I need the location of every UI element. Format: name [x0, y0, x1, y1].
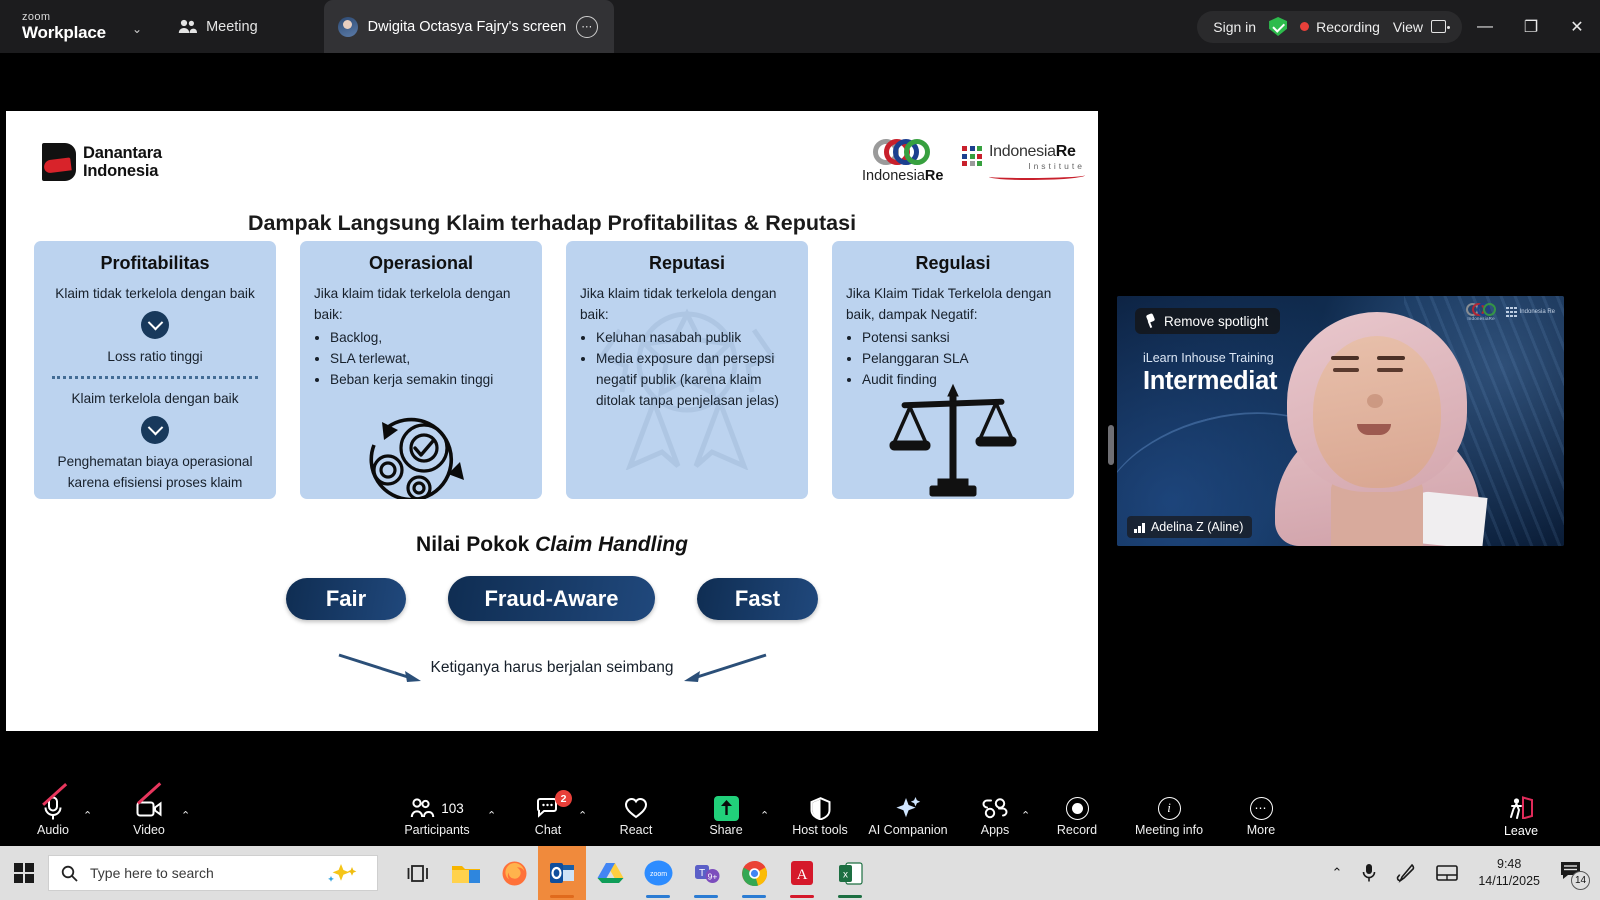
- share-caret-icon[interactable]: ⌃: [760, 809, 769, 822]
- info-icon: i: [1158, 795, 1181, 821]
- apps-icon: [982, 795, 1008, 821]
- title-bar: zoom Workplace ⌄ Meeting Dwigita Octasya…: [0, 0, 1600, 53]
- remove-spotlight-label: Remove spotlight: [1164, 314, 1268, 329]
- audio-caret-icon[interactable]: ⌃: [83, 809, 92, 822]
- card-regulasi: Regulasi Jika Klaim Tidak Terkelola deng…: [832, 241, 1074, 499]
- share-screen-icon: [714, 795, 739, 821]
- video-thumbnail-spotlight[interactable]: IndonesiaRe Indonesia Re iLearn Inhouse …: [1117, 296, 1564, 546]
- toolbar-ai-companion-button[interactable]: AI Companion: [862, 786, 954, 846]
- participant-name-chip: Adelina Z (Aline): [1127, 516, 1252, 538]
- indonesiare-logo: IndonesiaRe: [862, 139, 943, 184]
- heart-icon: [624, 795, 648, 821]
- shared-screen-area: Danantara Indonesia IndonesiaRe: [0, 53, 1104, 763]
- leave-button[interactable]: Leave: [1490, 786, 1552, 846]
- taskbar-search[interactable]: Type here to search: [48, 855, 378, 891]
- toolbar-label: Chat: [535, 824, 561, 837]
- danantara-logo: Danantara Indonesia: [42, 143, 162, 181]
- presentation-slide: Danantara Indonesia IndonesiaRe: [6, 111, 1098, 731]
- chevron-down-circle-icon: [141, 311, 169, 339]
- toolbar-react-button[interactable]: React: [606, 786, 666, 846]
- layout-icon: [1431, 20, 1446, 33]
- microphone-muted-icon: [42, 795, 64, 821]
- nilai-pokok-pills: Fair Fraud-Aware Fast: [6, 576, 1098, 621]
- tab-shared-screen-label: Dwigita Octasya Fajry's screen: [368, 19, 567, 35]
- slide-logo-row: Danantara Indonesia IndonesiaRe: [6, 133, 1098, 193]
- chat-bubble-icon: 2: [536, 795, 560, 821]
- impact-cards: Profitabilitas Klaim tidak terkelola den…: [34, 241, 1074, 499]
- ellipsis-icon: ⋯: [1250, 795, 1273, 821]
- danantara-line2: Indonesia: [83, 162, 162, 180]
- card-bullets: Keluhan nasabah publik Media exposure da…: [596, 327, 794, 411]
- view-button[interactable]: View: [1393, 19, 1446, 35]
- search-input[interactable]: Type here to search: [90, 865, 214, 881]
- svg-text:zoom: zoom: [649, 871, 666, 878]
- institute-sublabel: Institute: [989, 161, 1085, 171]
- record-icon: [1066, 795, 1089, 821]
- people-icon: [178, 19, 197, 34]
- nilai-title-italic: Claim Handling: [535, 533, 688, 556]
- search-icon: [61, 865, 78, 882]
- card-reputasi: Reputasi Jika klaim tidak terkelola deng…: [566, 241, 808, 499]
- sign-in-button[interactable]: Sign in: [1213, 19, 1256, 35]
- touchpad-icon[interactable]: [1436, 865, 1458, 881]
- view-label: View: [1393, 19, 1423, 35]
- toolbar-label: More: [1247, 824, 1275, 837]
- task-view-icon[interactable]: [394, 846, 442, 900]
- zoom-icon[interactable]: zoom: [634, 846, 682, 900]
- arrow-right-down-icon: [335, 651, 425, 685]
- list-item: SLA terlewat,: [330, 348, 528, 369]
- toolbar-label: Host tools: [792, 824, 848, 837]
- google-drive-icon[interactable]: [586, 846, 634, 900]
- avatar: [338, 17, 358, 37]
- tab-meeting[interactable]: Meeting: [178, 19, 258, 35]
- pill-fraud-aware: Fraud-Aware: [448, 576, 655, 621]
- tray-expand-icon[interactable]: ⌃: [1331, 865, 1342, 881]
- toolbar-label: Meeting info: [1135, 824, 1203, 837]
- danantara-line1: Danantara: [83, 144, 162, 162]
- acrobat-reader-icon[interactable]: A: [778, 846, 826, 900]
- nilai-title-plain: Nilai Pokok: [416, 533, 535, 556]
- chrome-icon[interactable]: [730, 846, 778, 900]
- toolbar-label: Record: [1057, 824, 1097, 837]
- toolbar-meeting-info-button[interactable]: i Meeting info: [1124, 786, 1214, 846]
- toolbar-label: React: [620, 824, 653, 837]
- chat-caret-icon[interactable]: ⌃: [578, 809, 587, 822]
- toolbar-apps-button[interactable]: Apps: [968, 786, 1022, 846]
- indonesiare-institute-logo: IndonesiaRe Institute: [962, 143, 1085, 180]
- institute-caption: Indonesia Re: [1520, 309, 1555, 315]
- system-tray: ⌃ 9:48 14/11/2025: [1331, 846, 1600, 900]
- toolbar-chat-button[interactable]: 2 Chat: [520, 786, 576, 846]
- svg-text:9+: 9+: [707, 871, 717, 881]
- clock-date: 14/11/2025: [1478, 873, 1540, 890]
- people-icon: 103: [410, 795, 464, 821]
- toolbar-more-button[interactable]: ⋯ More: [1232, 786, 1290, 846]
- list-item: Potensi sanksi: [862, 327, 1060, 348]
- toolbar-record-button[interactable]: Record: [1046, 786, 1108, 846]
- audio-level-icon: [1134, 522, 1145, 533]
- svg-text:T: T: [698, 868, 704, 879]
- toolbar-audio-button[interactable]: Audio: [20, 786, 86, 846]
- maximize-button[interactable]: ❐: [1508, 0, 1554, 53]
- toolbar-label: Apps: [981, 824, 1010, 837]
- institute-dots-icon: [1506, 307, 1517, 318]
- video-caret-icon[interactable]: ⌃: [181, 809, 190, 822]
- card-heading: Profitabilitas: [48, 253, 262, 274]
- clock[interactable]: 9:48 14/11/2025: [1478, 856, 1540, 890]
- justice-scales-icon: [888, 381, 1018, 499]
- notification-center-button[interactable]: 14: [1560, 860, 1586, 886]
- chevron-down-circle-icon: [141, 416, 169, 444]
- microphone-icon[interactable]: [1362, 863, 1376, 883]
- card-profitabilitas: Profitabilitas Klaim tidak terkelola den…: [34, 241, 276, 499]
- card-line2: Loss ratio tinggi: [48, 346, 262, 367]
- participants-count: 103: [441, 801, 464, 816]
- tab-meeting-label: Meeting: [206, 19, 258, 35]
- recording-indicator[interactable]: Recording: [1300, 19, 1380, 35]
- sparkle-icon: [896, 795, 921, 821]
- indonesiare-rings-icon: [873, 139, 933, 165]
- windows-logo-icon: [14, 863, 34, 883]
- remove-spotlight-button[interactable]: Remove spotlight: [1135, 308, 1280, 334]
- nilai-pokok-title: Nilai Pokok Claim Handling: [6, 533, 1098, 557]
- toolbar-host-tools-button[interactable]: Host tools: [785, 786, 855, 846]
- institute-swoosh-icon: [989, 172, 1085, 180]
- file-explorer-icon[interactable]: [442, 846, 490, 900]
- zoom-wordmark-top: zoom: [22, 11, 118, 23]
- chat-unread-badge: 2: [555, 790, 572, 807]
- svg-text:x: x: [843, 869, 848, 880]
- card-intro: Jika Klaim Tidak Terkelola dengan baik, …: [846, 283, 1060, 325]
- balance-note-row: Ketiganya harus berjalan seimbang: [6, 651, 1098, 685]
- video-panel-scrollbar[interactable]: [1108, 425, 1114, 465]
- card-operasional: Operasional Jika klaim tidak terkelola d…: [300, 241, 542, 499]
- card-line1: Klaim tidak terkelola dengan baik: [48, 283, 262, 304]
- pill-fair: Fair: [286, 578, 406, 620]
- toolbar-label: Audio: [37, 824, 69, 837]
- institute-label: IndonesiaRe: [989, 143, 1085, 161]
- teams-icon[interactable]: T 9+: [682, 846, 730, 900]
- recording-label: Recording: [1316, 19, 1380, 35]
- participants-caret-icon[interactable]: ⌃: [487, 809, 496, 822]
- participant-name: Adelina Z (Aline): [1151, 520, 1243, 534]
- shield-icon: [810, 795, 831, 821]
- notification-count-badge: 14: [1571, 871, 1590, 890]
- pill-fast: Fast: [697, 578, 818, 620]
- indonesiare-label: IndonesiaRe: [862, 168, 943, 184]
- titlebar-right: Sign in Recording View — ❐ ✕: [1197, 0, 1600, 53]
- windows-taskbar: Type here to search: [0, 846, 1600, 900]
- tab-shared-screen[interactable]: Dwigita Octasya Fajry's screen ⋯: [324, 0, 615, 53]
- card-heading: Operasional: [314, 253, 528, 274]
- shield-check-icon[interactable]: [1269, 17, 1287, 36]
- toolbar-label: AI Companion: [868, 824, 947, 837]
- leave-door-icon: [1508, 795, 1534, 821]
- slide-title: Dampak Langsung Klaim terhadap Profitabi…: [6, 211, 1098, 236]
- leave-label: Leave: [1504, 824, 1538, 838]
- arrow-left-down-icon: [680, 651, 770, 685]
- excel-icon[interactable]: x: [826, 846, 874, 900]
- card-intro: Jika klaim tidak terkelola dengan baik:: [580, 283, 794, 325]
- card-heading: Reputasi: [580, 253, 794, 274]
- more-options-icon[interactable]: ⋯: [576, 16, 598, 38]
- card-bullets: Backlog, SLA terlewat, Beban kerja semak…: [330, 327, 528, 390]
- toolbar-video-button[interactable]: Video: [118, 786, 180, 846]
- firefox-icon[interactable]: [490, 846, 538, 900]
- list-item: Keluhan nasabah publik: [596, 327, 794, 348]
- danantara-mark-icon: [42, 143, 76, 181]
- list-item: Media exposure dan persepsi negatif publ…: [596, 348, 794, 411]
- zoom-logo: zoom Workplace: [22, 11, 118, 43]
- camera-off-icon: [136, 795, 162, 821]
- divider: [52, 376, 258, 379]
- participant-video-image: [1269, 306, 1484, 546]
- status-pill: Sign in Recording View: [1197, 11, 1462, 43]
- apps-caret-icon[interactable]: ⌃: [1021, 809, 1030, 822]
- institute-dots-icon: [962, 146, 982, 166]
- card-heading: Regulasi: [846, 253, 1060, 274]
- card-intro: Jika klaim tidak terkelola dengan baik:: [314, 283, 528, 325]
- clock-time: 9:48: [1497, 856, 1521, 873]
- record-dot-icon: [1300, 22, 1309, 31]
- list-item: Backlog,: [330, 327, 528, 348]
- zoom-meeting-window: zoom Workplace ⌄ Meeting Dwigita Octasya…: [0, 0, 1600, 900]
- list-item: Pelanggaran SLA: [862, 348, 1060, 369]
- gears-process-icon: [352, 400, 472, 499]
- video-bg-subtitle: iLearn Inhouse Training: [1143, 351, 1274, 365]
- minimize-button[interactable]: —: [1462, 0, 1508, 53]
- card-line4: Penghematan biaya operasional karena efi…: [48, 451, 262, 493]
- pin-icon: [1144, 314, 1157, 328]
- sparkle-icon[interactable]: [325, 862, 365, 884]
- chevron-down-icon[interactable]: ⌄: [132, 22, 142, 36]
- toolbar-label: Video: [133, 824, 165, 837]
- list-item: Beban kerja semakin tinggi: [330, 369, 528, 390]
- meeting-toolbar: Audio ⌃ Video ⌃ 103: [0, 786, 1600, 846]
- svg-text:A: A: [797, 867, 808, 883]
- outlook-icon[interactable]: [538, 846, 586, 900]
- video-bg-title: Intermediat: [1143, 367, 1277, 396]
- institute-logo-small: Indonesia Re: [1506, 307, 1555, 318]
- close-button[interactable]: ✕: [1554, 0, 1600, 53]
- toolbar-label: Share: [709, 824, 742, 837]
- toolbar-share-button[interactable]: Share: [697, 786, 755, 846]
- toolbar-participants-button[interactable]: 103 Participants: [398, 786, 476, 846]
- balance-note-text: Ketiganya harus berjalan seimbang: [431, 659, 674, 677]
- start-button[interactable]: [0, 846, 48, 900]
- card-line3: Klaim terkelola dengan baik: [48, 388, 262, 409]
- zoom-wordmark-bottom: Workplace: [22, 23, 118, 43]
- pen-icon[interactable]: [1396, 863, 1416, 883]
- toolbar-label: Participants: [404, 824, 469, 837]
